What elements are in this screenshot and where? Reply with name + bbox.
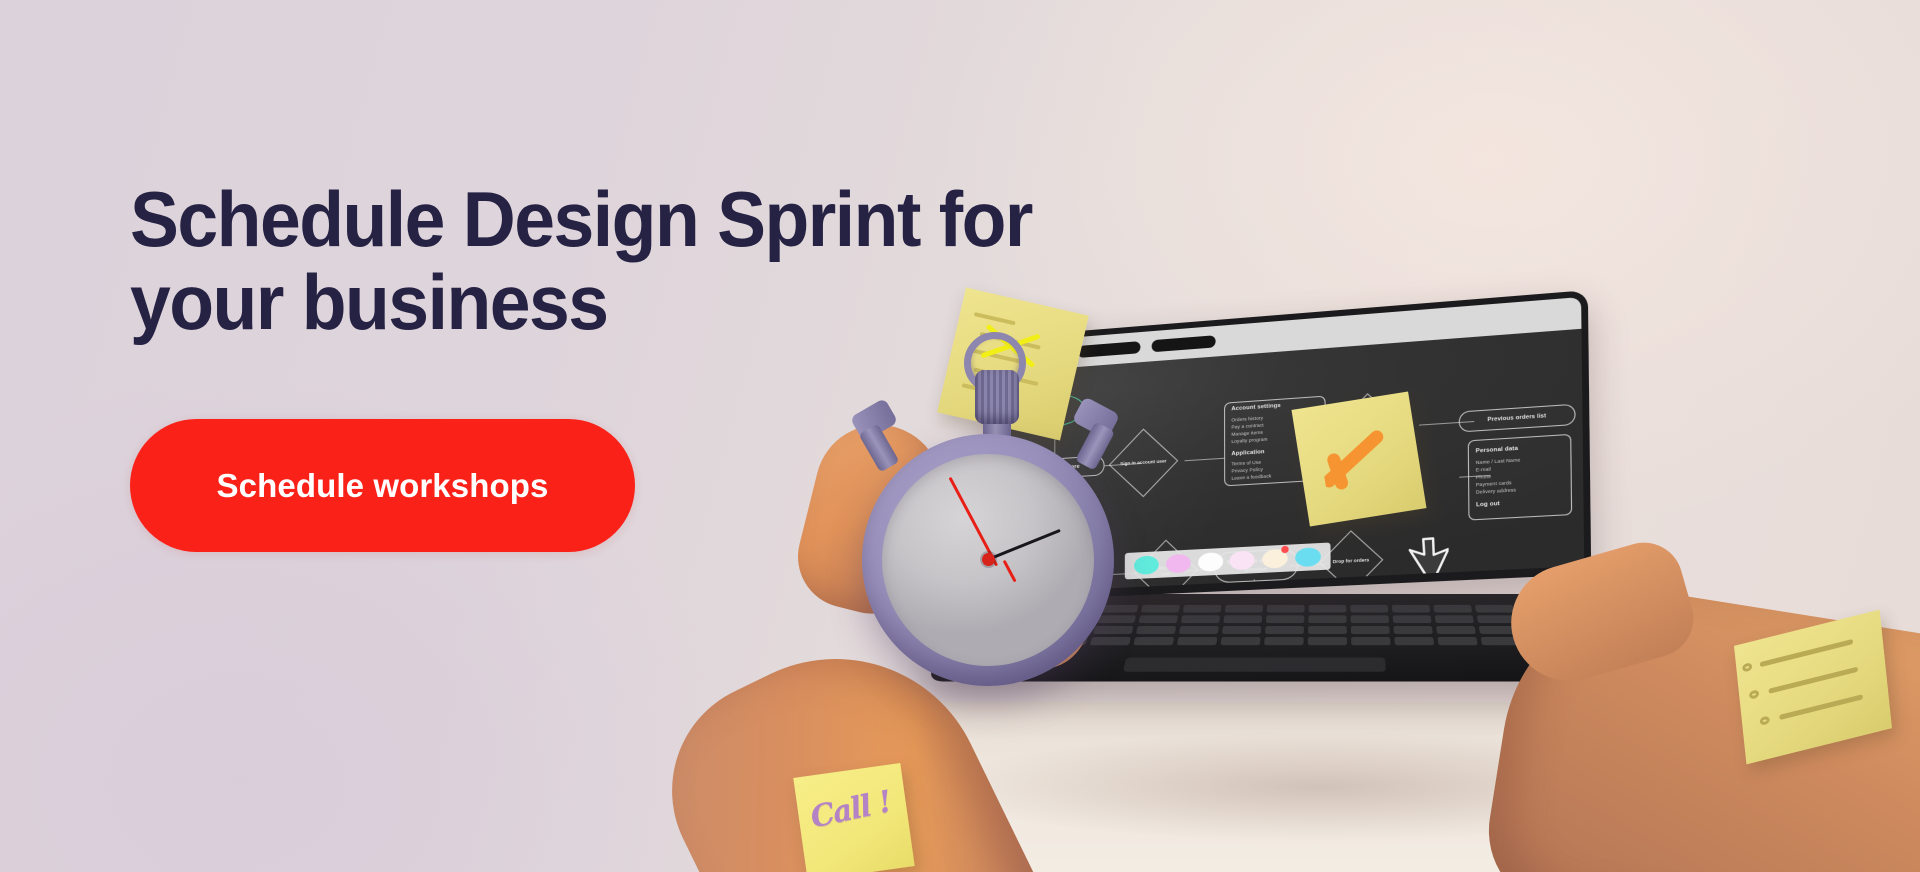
sticky-paper bbox=[1291, 391, 1426, 526]
node-title: Account settings bbox=[1231, 402, 1280, 414]
connector bbox=[1185, 458, 1225, 462]
color-palette-bar[interactable] bbox=[1125, 542, 1331, 579]
sticky-paper: Call ! bbox=[793, 763, 914, 872]
connector bbox=[1254, 579, 1256, 593]
sticky-note-call-text: Call ! bbox=[808, 784, 894, 835]
swatch-light-pink[interactable] bbox=[1230, 550, 1255, 570]
connector bbox=[1183, 569, 1221, 572]
swatch-cyan[interactable] bbox=[1295, 547, 1321, 567]
flow-node-tap-go-to-cart[interactable]: Tap Go to cart bbox=[1219, 585, 1282, 594]
flow-node-previous-orders-list[interactable]: Previous orders list bbox=[1459, 404, 1576, 433]
node-title: Personal data bbox=[1476, 445, 1519, 457]
node-item: Terms of Use bbox=[1231, 459, 1261, 468]
hero-copy: Schedule Design Sprint for your business… bbox=[130, 178, 1130, 552]
node-item: Name / Last Name bbox=[1476, 456, 1521, 466]
node-title: Application bbox=[1231, 448, 1264, 459]
connector bbox=[1290, 564, 1326, 567]
swatch-active-dot bbox=[1281, 546, 1288, 554]
node-item: Leave a feedback bbox=[1231, 473, 1271, 483]
node-title-logout: Log out bbox=[1476, 500, 1500, 510]
node-label: Order item / Add to cart bbox=[1144, 564, 1187, 579]
schedule-workshops-button[interactable]: Schedule workshops bbox=[130, 419, 635, 552]
orange-arrow-icon bbox=[1318, 424, 1402, 493]
stopwatch-pivot bbox=[982, 553, 995, 566]
node-label: Drop for orders bbox=[1329, 557, 1372, 566]
swatch-pink[interactable] bbox=[1166, 554, 1191, 574]
node-item: E-mail bbox=[1476, 465, 1491, 473]
page-title: Schedule Design Sprint for your business bbox=[130, 178, 1070, 343]
sticky-note-call: Call ! bbox=[793, 763, 914, 872]
swatch-cream[interactable] bbox=[1262, 549, 1288, 569]
hero-banner: Schedule Design Sprint for your business… bbox=[0, 0, 1920, 872]
node-item: Pay a contract bbox=[1231, 422, 1263, 431]
flow-node-order-item[interactable]: Order item / Add to cart bbox=[1134, 540, 1198, 594]
node-item: Privacy Policy bbox=[1231, 466, 1263, 475]
sticky-note-arrow bbox=[1291, 391, 1426, 526]
node-item: Payment cards bbox=[1476, 479, 1512, 489]
flow-node-drop-for-orders[interactable]: Drop for orders bbox=[1319, 530, 1383, 592]
browser-tab-3[interactable] bbox=[1152, 335, 1216, 352]
node-item: Manage items bbox=[1231, 429, 1263, 438]
connector bbox=[1459, 475, 1490, 478]
node-item: Delivery address bbox=[1476, 486, 1516, 496]
flow-node-cart-preview[interactable]: Same page with Cart preview bbox=[1214, 548, 1299, 583]
swatch-white[interactable] bbox=[1198, 552, 1223, 572]
connector bbox=[1419, 421, 1474, 426]
node-item: Orders history bbox=[1231, 414, 1263, 423]
node-item: Phone bbox=[1476, 473, 1491, 481]
node-item: Loyalty program bbox=[1231, 436, 1267, 446]
swatch-turquoise[interactable] bbox=[1134, 555, 1159, 575]
laptop-trackpad bbox=[1123, 657, 1386, 671]
